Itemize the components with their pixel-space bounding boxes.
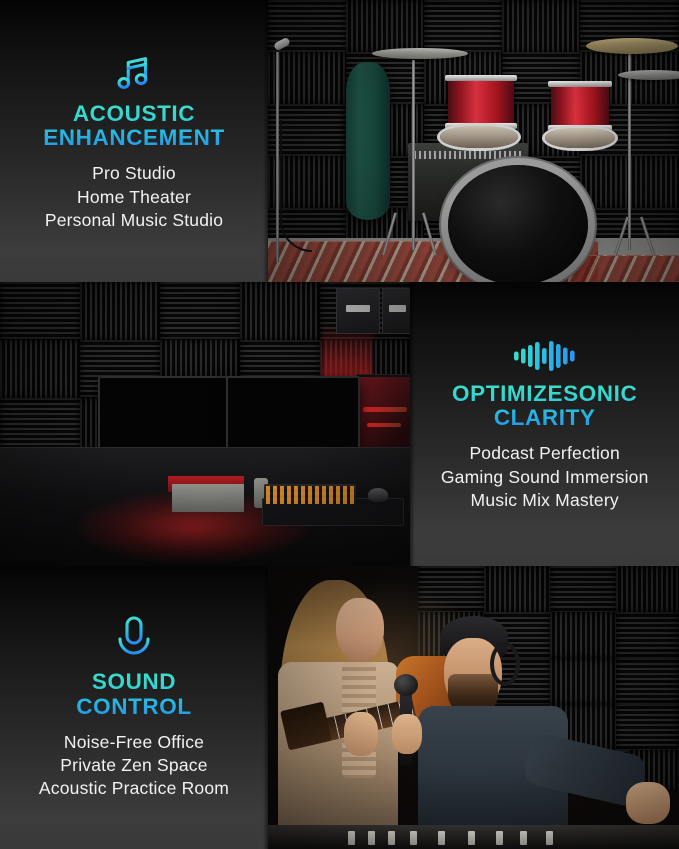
headline-line-1: SOUND <box>92 669 176 694</box>
panel-bullet-list: Pro Studio Home Theater Personal Music S… <box>45 162 223 232</box>
panel-bullet-list: Noise-Free Office Private Zen Space Acou… <box>39 731 229 801</box>
infographic-root: ACOUSTIC ENHANCEMENT Pro Studio Home The… <box>0 0 679 849</box>
ride-cymbal <box>586 38 678 54</box>
crash-cymbal <box>372 48 468 59</box>
feature-row-optimizesonic-clarity: OPTIMIZESONIC CLARITY Podcast Perfection… <box>0 282 679 566</box>
list-item: Personal Music Studio <box>45 209 223 232</box>
gaming-mouse <box>368 488 388 502</box>
rack-tom-left <box>448 78 514 126</box>
list-item: Gaming Sound Immersion <box>441 466 649 489</box>
list-item: Private Zen Space <box>39 754 229 777</box>
hand-on-mixer <box>626 782 670 824</box>
sound-wave-icon <box>512 336 578 376</box>
headline-line-2: ENHANCEMENT <box>43 125 225 150</box>
list-item: Acoustic Practice Room <box>39 777 229 800</box>
hand-on-fretboard <box>344 712 378 756</box>
headline-line-1: ACOUSTIC <box>73 101 195 126</box>
panel-bullet-list: Podcast Perfection Gaming Sound Immersio… <box>441 442 649 512</box>
mic-stand <box>276 52 279 262</box>
guitar-case <box>346 62 390 220</box>
mic-cable <box>280 120 312 252</box>
headline-line-2: CLARITY <box>494 405 596 430</box>
bass-drum <box>448 165 588 282</box>
console-fader <box>410 831 417 845</box>
music-note-icon <box>111 50 157 96</box>
cymbal-stand <box>412 60 415 250</box>
floor-tom-head <box>545 128 615 148</box>
storage-box <box>336 288 380 334</box>
musicians-recording-studio-photo <box>268 566 679 849</box>
console-fader <box>348 831 355 845</box>
headline-line-1: OPTIMIZESONIC <box>452 381 637 406</box>
rack-tom-right <box>551 84 609 128</box>
floor-tom-head <box>440 126 518 148</box>
panel-optimizesonic-clarity: OPTIMIZESONIC CLARITY Podcast Perfection… <box>410 282 679 566</box>
console-fader <box>546 831 553 845</box>
panel-headline: SOUND CONTROL <box>76 670 191 719</box>
drum-kit-studio-photo <box>268 0 679 282</box>
list-item: Podcast Perfection <box>441 442 649 465</box>
console-fader <box>368 831 375 845</box>
headphones <box>490 642 520 686</box>
console-fader <box>468 831 475 845</box>
hand-holding-mic <box>392 714 422 754</box>
console-fader <box>438 831 445 845</box>
console-fader <box>520 831 527 845</box>
torso <box>278 662 398 849</box>
console-fader <box>496 831 503 845</box>
panel-headline: ACOUSTIC ENHANCEMENT <box>43 102 225 151</box>
feature-row-acoustic-enhancement: ACOUSTIC ENHANCEMENT Pro Studio Home The… <box>0 0 679 282</box>
panel-edge-shadow <box>410 282 415 566</box>
feature-row-sound-control: SOUND CONTROL Noise-Free Office Private … <box>0 566 679 849</box>
face <box>336 598 384 662</box>
console-fader <box>388 831 395 845</box>
panel-sound-control: SOUND CONTROL Noise-Free Office Private … <box>0 566 268 849</box>
microphone-capsule <box>394 674 418 696</box>
list-item: Music Mix Mastery <box>441 489 649 512</box>
headline-line-2: CONTROL <box>76 694 191 719</box>
storage-box <box>382 288 410 334</box>
mechanical-keyboard <box>264 484 356 506</box>
desk-accessory-grey <box>172 484 244 512</box>
panel-acoustic-enhancement: ACOUSTIC ENHANCEMENT Pro Studio Home The… <box>0 0 268 282</box>
microphone-icon <box>112 614 156 664</box>
panel-headline: OPTIMIZESONIC CLARITY <box>452 382 637 431</box>
gaming-desk-setup-photo <box>0 282 410 566</box>
list-item: Noise-Free Office <box>39 731 229 754</box>
persian-rug <box>568 255 679 282</box>
list-item: Home Theater <box>45 186 223 209</box>
list-item: Pro Studio <box>45 162 223 185</box>
